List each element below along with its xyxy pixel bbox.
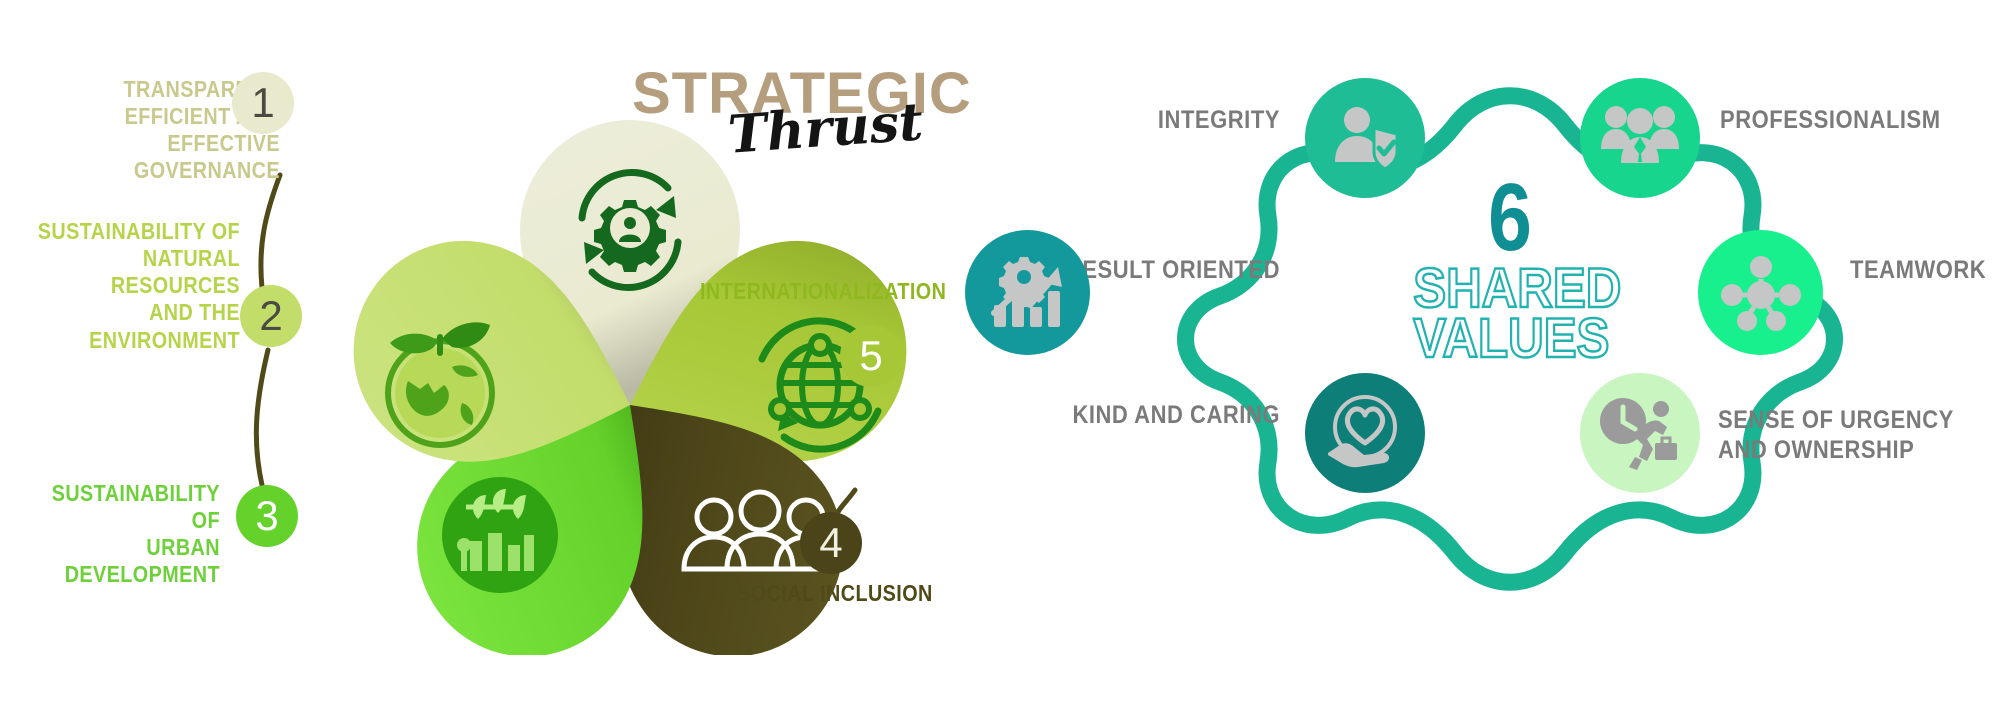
- value-circle-teamwork[interactable]: [1698, 230, 1823, 355]
- value-circle-professionalism[interactable]: [1580, 78, 1700, 198]
- globe-leaf-icon: [388, 322, 492, 445]
- strategic-badge-2-number: 2: [259, 295, 282, 337]
- strategic-badge-4-number: 4: [819, 522, 842, 564]
- value-label-kind-and-caring: KIND AND CARING: [963, 400, 1280, 430]
- person-shield-icon: [1327, 100, 1403, 176]
- infographic-canvas: STRATEGIC Thrust TRANSPARENT, EFFICIENT …: [0, 0, 2000, 706]
- strategic-label-5: INTERNATIONALIZATION: [700, 278, 958, 305]
- strategic-label-3: SUSTAINABILITY OF URBAN DEVELOPMENT: [31, 480, 220, 589]
- value-circle-sense-of-urgency[interactable]: [1580, 373, 1700, 493]
- strategic-badge-3-number: 3: [255, 495, 278, 537]
- strategic-badge-1-number: 1: [251, 82, 274, 124]
- value-label-integrity: INTEGRITY: [1007, 105, 1280, 135]
- value-circle-kind-and-caring[interactable]: [1305, 373, 1425, 493]
- hand-heart-icon: [1324, 395, 1406, 471]
- value-circle-integrity[interactable]: [1305, 78, 1425, 198]
- strategic-label-4: SOCIAL INCLUSION: [719, 580, 951, 607]
- growth-chart-gear-icon: [988, 255, 1068, 331]
- strategic-badge-4[interactable]: 4: [800, 512, 862, 574]
- strategic-badge-5[interactable]: 5: [840, 325, 902, 387]
- people-group-icon: [1599, 101, 1681, 175]
- network-nodes-icon: [1721, 255, 1801, 331]
- green-city-icon: [442, 477, 558, 593]
- value-circle-result-oriented[interactable]: [965, 230, 1090, 355]
- value-label-professionalism: PROFESSIONALISM: [1720, 105, 2000, 135]
- strategic-thrust-panel: STRATEGIC Thrust TRANSPARENT, EFFICIENT …: [0, 0, 1000, 706]
- strategic-badge-5-number: 5: [859, 335, 882, 377]
- strategic-label-2: SUSTAINABILITY OF NATURAL RESOURCES AND …: [34, 218, 240, 354]
- value-label-sense-of-urgency: SENSE OF URGENCY AND OWNERSHIP: [1718, 405, 2000, 465]
- value-label-teamwork: TEAMWORK: [1850, 255, 2000, 285]
- center-line-values: VALUES: [1413, 312, 1607, 364]
- clock-running-person-icon: [1597, 395, 1683, 471]
- center-number: 6: [1444, 175, 1575, 261]
- strategic-badge-1[interactable]: 1: [232, 72, 294, 134]
- strategic-badge-3[interactable]: 3: [236, 485, 298, 547]
- strategic-badge-2[interactable]: 2: [240, 285, 302, 347]
- shared-values-panel: 6 SHARED VALUES INTEGRITY: [1000, 0, 2000, 706]
